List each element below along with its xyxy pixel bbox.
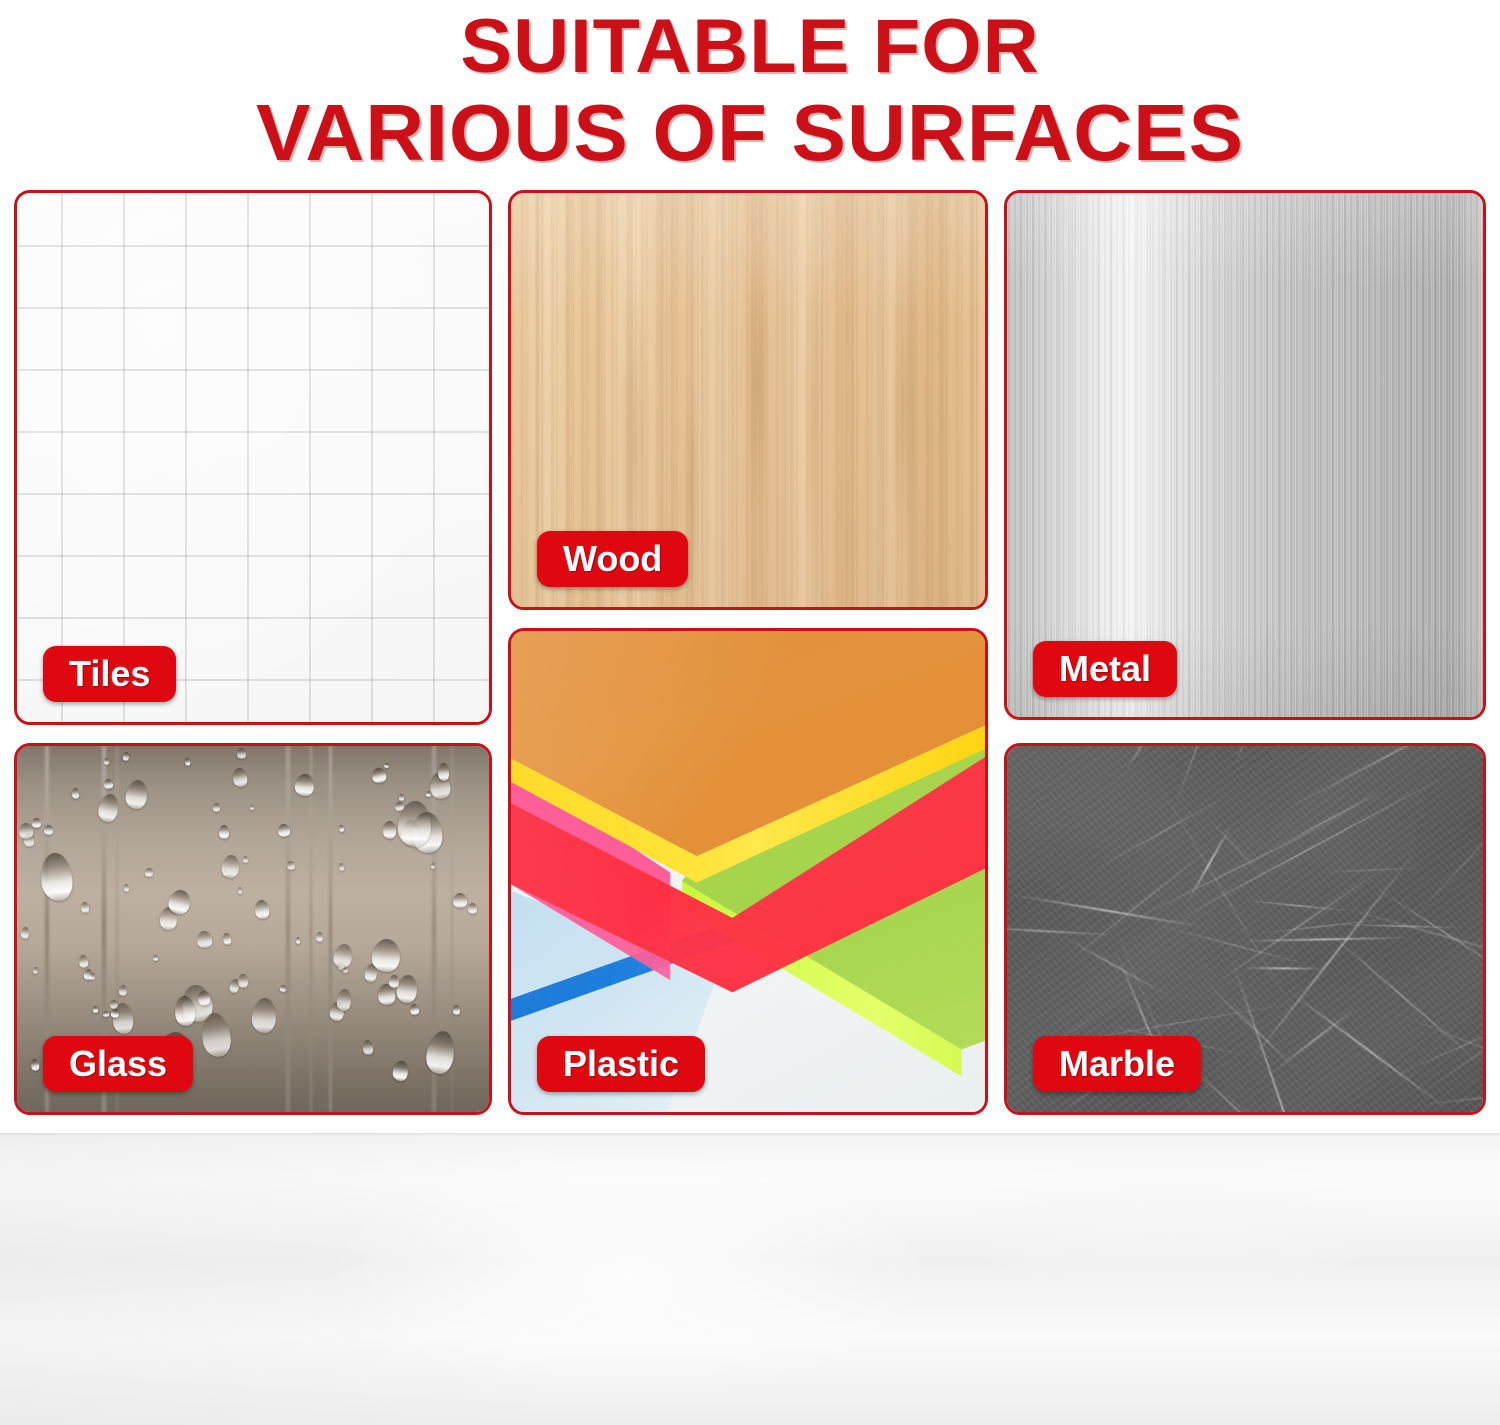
page-title: SUITABLE FOR VARIOUS OF SURFACES (0, 4, 1500, 176)
infographic-root: SUITABLE FOR VARIOUS OF SURFACES Tiles W… (0, 0, 1500, 1425)
surface-label-marble: Marble (1033, 1036, 1201, 1092)
bottom-countertop-surface (0, 1133, 1500, 1425)
surface-label-wood: Wood (537, 531, 688, 587)
surface-panel-glass: Glass (14, 743, 492, 1115)
surface-panel-metal: Metal (1004, 190, 1486, 720)
surface-label-tiles: Tiles (43, 646, 176, 702)
surface-label-plastic: Plastic (537, 1036, 705, 1092)
surface-panel-grid: Tiles Wood Metal Glass (0, 190, 1500, 1125)
page-title-line-2: VARIOUS OF SURFACES (0, 90, 1500, 176)
surface-panel-plastic: Plastic (508, 628, 988, 1115)
surface-panel-tiles: Tiles (14, 190, 492, 725)
page-title-line-1: SUITABLE FOR (0, 4, 1500, 90)
surface-label-metal: Metal (1033, 641, 1177, 697)
surface-label-glass: Glass (43, 1036, 193, 1092)
surface-panel-wood: Wood (508, 190, 988, 610)
metal-texture (1007, 193, 1483, 717)
tiles-texture (17, 193, 489, 722)
surface-panel-marble: Marble (1004, 743, 1486, 1115)
